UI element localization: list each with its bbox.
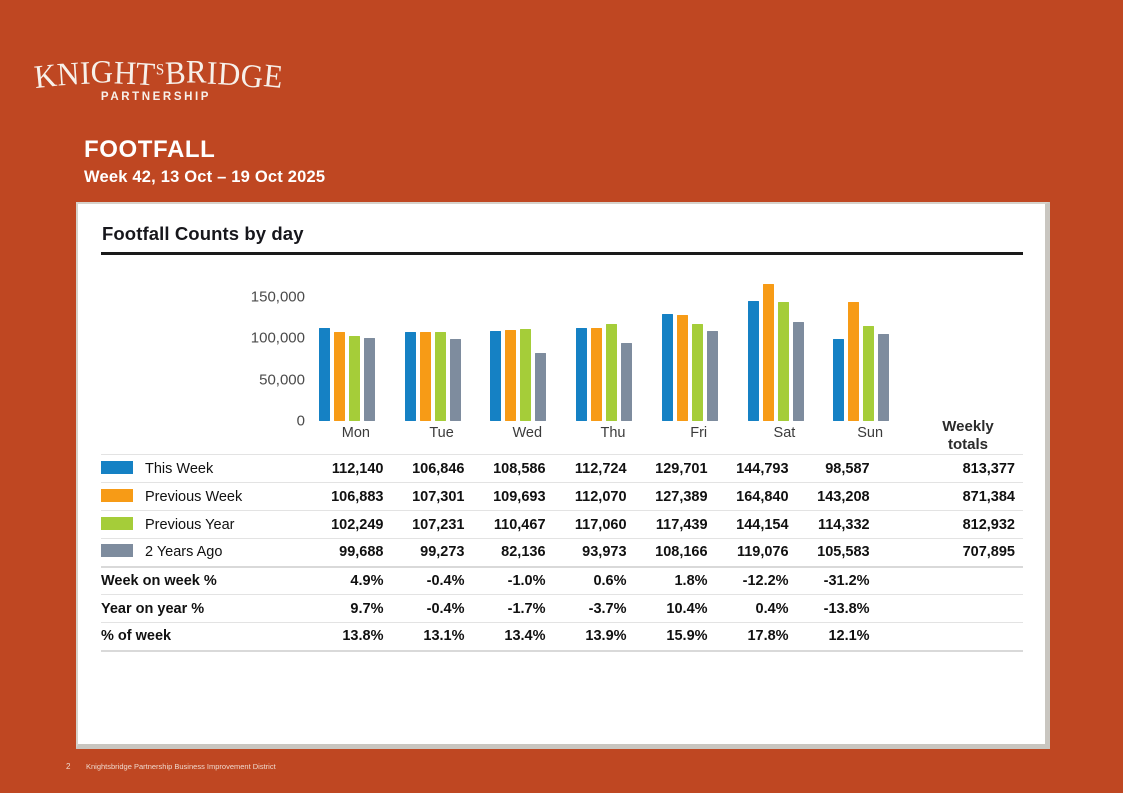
table-cell-value: 114,332 <box>789 511 870 539</box>
x-axis-tick: Sun <box>827 425 913 441</box>
chart-plot-area <box>313 276 913 421</box>
logo-subtitle: PARTNERSHIP <box>34 91 264 103</box>
table-cell-value: 144,154 <box>708 511 789 539</box>
y-axis-tick: 150,000 <box>251 288 305 305</box>
bar <box>692 324 703 421</box>
bar <box>349 336 360 421</box>
x-axis-tick: Mon <box>313 425 399 441</box>
bar <box>677 315 688 421</box>
legend-swatch-icon <box>101 461 133 474</box>
x-axis-tick: Thu <box>570 425 656 441</box>
bar <box>793 322 804 421</box>
table-row: Previous Year102,249107,231110,467117,06… <box>101 511 1023 539</box>
table-cell-total: 813,377 <box>922 455 1023 483</box>
table-cell-percent: 12.1% <box>789 623 870 651</box>
table-cell-percent: -3.7% <box>546 595 627 623</box>
series-label-cell: This Week <box>101 455 302 483</box>
table-cell-percent: 9.7% <box>302 595 383 623</box>
bar-group <box>313 276 399 421</box>
chart-title: Footfall Counts by day <box>102 223 304 245</box>
table-cell-percent: 13.9% <box>546 623 627 651</box>
table-cell-spacer <box>870 511 923 539</box>
table-cell-value: 106,846 <box>383 455 464 483</box>
x-axis-tick: Wed <box>484 425 570 441</box>
x-axis-tick: Sat <box>742 425 828 441</box>
table-cell-percent: 13.1% <box>383 623 464 651</box>
bar <box>450 339 461 421</box>
bar-group <box>399 276 485 421</box>
table-cell-percent: 0.4% <box>708 595 789 623</box>
legend-swatch-icon <box>101 489 133 502</box>
table-cell-percent: 13.8% <box>302 623 383 651</box>
table-cell-total: 707,895 <box>922 539 1023 567</box>
bar <box>319 328 330 421</box>
table-cell-percent: -12.2% <box>708 567 789 595</box>
bar <box>420 332 431 421</box>
table-cell-percent: 0.6% <box>546 567 627 595</box>
y-axis-labels: 050,000100,000150,000 <box>211 276 305 421</box>
bar <box>490 331 501 421</box>
table-cell-percent: 1.8% <box>627 567 708 595</box>
bar <box>405 332 416 421</box>
table-cell-value: 102,249 <box>302 511 383 539</box>
series-name: This Week <box>145 461 213 477</box>
report-card: Footfall Counts by day 050,000100,000150… <box>76 202 1050 749</box>
table-cell-value: 143,208 <box>789 483 870 511</box>
bar <box>621 343 632 421</box>
table-cell-value: 99,688 <box>302 539 383 567</box>
table-cell-total: 812,932 <box>922 511 1023 539</box>
bar <box>662 314 673 421</box>
bar <box>606 324 617 421</box>
bar <box>505 330 516 421</box>
bar <box>778 302 789 421</box>
page-title: FOOTFALL <box>84 136 325 164</box>
table-cell-value: 110,467 <box>465 511 546 539</box>
series-label-cell: 2 Years Ago <box>101 539 302 567</box>
series-name: Previous Year <box>145 517 234 533</box>
table-cell-value: 164,840 <box>708 483 789 511</box>
table-row: Week on week %4.9%-0.4%-1.0%0.6%1.8%-12.… <box>101 567 1023 595</box>
title-divider <box>101 252 1023 255</box>
table-cell-value: 99,273 <box>383 539 464 567</box>
table-cell-value: 105,583 <box>789 539 870 567</box>
table-cell-value: 119,076 <box>708 539 789 567</box>
table-cell-value: 117,060 <box>546 511 627 539</box>
table-row: Year on year %9.7%-0.4%-1.7%-3.7%10.4%0.… <box>101 595 1023 623</box>
table-cell-value: 109,693 <box>465 483 546 511</box>
page-subtitle: Week 42, 13 Oct – 19 Oct 2025 <box>84 166 325 188</box>
bar <box>833 339 844 421</box>
brand-logo: KNIGHTSBRIDGE PARTNERSHIP <box>34 52 264 104</box>
table-cell-spacer <box>870 567 923 595</box>
table-cell-percent: 13.4% <box>465 623 546 651</box>
table-cell-value: 93,973 <box>546 539 627 567</box>
table-cell-value: 107,301 <box>383 483 464 511</box>
x-axis-tick: Fri <box>656 425 742 441</box>
table-cell-value: 112,140 <box>302 455 383 483</box>
y-axis-tick: 0 <box>297 413 305 430</box>
series-name: Previous Week <box>145 489 242 505</box>
legend-swatch-icon <box>101 544 133 557</box>
logo-superscript-s: S <box>156 52 165 88</box>
bar <box>763 284 774 421</box>
y-axis-tick: 100,000 <box>251 330 305 347</box>
bar-group <box>570 276 656 421</box>
bar <box>576 328 587 421</box>
table-cell-value: 98,587 <box>789 455 870 483</box>
series-label-cell: Previous Year <box>101 511 302 539</box>
series-label-cell: Previous Week <box>101 483 302 511</box>
table-cell-spacer <box>870 483 923 511</box>
page-title-block: FOOTFALL Week 42, 13 Oct – 19 Oct 2025 <box>84 136 325 188</box>
table-cell-value: 108,166 <box>627 539 708 567</box>
bar <box>334 332 345 421</box>
table-cell-percent: 10.4% <box>627 595 708 623</box>
x-axis-labels: MonTueWedThuFriSatSun <box>313 425 913 449</box>
bar <box>878 334 889 421</box>
weekly-totals-header: Weekly totals <box>916 418 1020 454</box>
percent-row-label: % of week <box>101 623 302 651</box>
bar <box>748 301 759 421</box>
footfall-table-wrap: This Week112,140106,846108,586112,724129… <box>101 454 1023 652</box>
series-name: 2 Years Ago <box>145 544 222 560</box>
table-cell-percent: -0.4% <box>383 567 464 595</box>
table-cell-percent: 17.8% <box>708 623 789 651</box>
footfall-table: This Week112,140106,846108,586112,724129… <box>101 454 1023 652</box>
table-cell-spacer <box>870 623 923 651</box>
table-cell-percent: 15.9% <box>627 623 708 651</box>
table-cell-percent: -1.7% <box>465 595 546 623</box>
table-row: Previous Week106,883107,301109,693112,07… <box>101 483 1023 511</box>
bar-group <box>827 276 913 421</box>
table-cell-value: 108,586 <box>465 455 546 483</box>
y-axis-tick: 50,000 <box>259 371 305 388</box>
table-row: 2 Years Ago99,68899,27382,13693,973108,1… <box>101 539 1023 567</box>
table-cell-spacer <box>922 567 1023 595</box>
table-cell-spacer <box>922 623 1023 651</box>
table-cell-value: 112,070 <box>546 483 627 511</box>
table-cell-percent: -0.4% <box>383 595 464 623</box>
bar <box>535 353 546 421</box>
bar <box>435 332 446 421</box>
table-cell-spacer <box>870 455 923 483</box>
table-cell-percent: 4.9% <box>302 567 383 595</box>
bar-group <box>484 276 570 421</box>
bar-group <box>742 276 828 421</box>
table-cell-percent: -13.8% <box>789 595 870 623</box>
bar <box>520 329 531 421</box>
percent-row-label: Week on week % <box>101 567 302 595</box>
bar <box>848 302 859 421</box>
table-cell-percent: -1.0% <box>465 567 546 595</box>
logo-wordmark: KNIGHTSBRIDGE <box>34 52 264 91</box>
bar <box>707 331 718 421</box>
slide-footer: 2Knightsbridge Partnership Business Impr… <box>66 762 276 771</box>
x-axis-tick: Tue <box>399 425 485 441</box>
table-row: This Week112,140106,846108,586112,724129… <box>101 455 1023 483</box>
table-cell-spacer <box>870 539 923 567</box>
table-cell-value: 129,701 <box>627 455 708 483</box>
bar <box>863 326 874 421</box>
table-cell-value: 107,231 <box>383 511 464 539</box>
percent-row-label: Year on year % <box>101 595 302 623</box>
table-cell-total: 871,384 <box>922 483 1023 511</box>
table-cell-value: 82,136 <box>465 539 546 567</box>
table-cell-value: 117,439 <box>627 511 708 539</box>
bar-group <box>656 276 742 421</box>
legend-swatch-icon <box>101 517 133 530</box>
page-number: 2 <box>66 762 86 771</box>
table-cell-value: 144,793 <box>708 455 789 483</box>
table-cell-value: 106,883 <box>302 483 383 511</box>
table-cell-value: 112,724 <box>546 455 627 483</box>
table-cell-spacer <box>870 595 923 623</box>
bar <box>591 328 602 421</box>
table-row: % of week13.8%13.1%13.4%13.9%15.9%17.8%1… <box>101 623 1023 651</box>
footer-text: Knightsbridge Partnership Business Impro… <box>86 762 276 771</box>
table-cell-spacer <box>922 595 1023 623</box>
table-cell-percent: -31.2% <box>789 567 870 595</box>
bar-chart: 050,000100,000150,000 MonTueWedThuFriSat… <box>101 276 1023 451</box>
bar <box>364 338 375 421</box>
table-cell-value: 127,389 <box>627 483 708 511</box>
